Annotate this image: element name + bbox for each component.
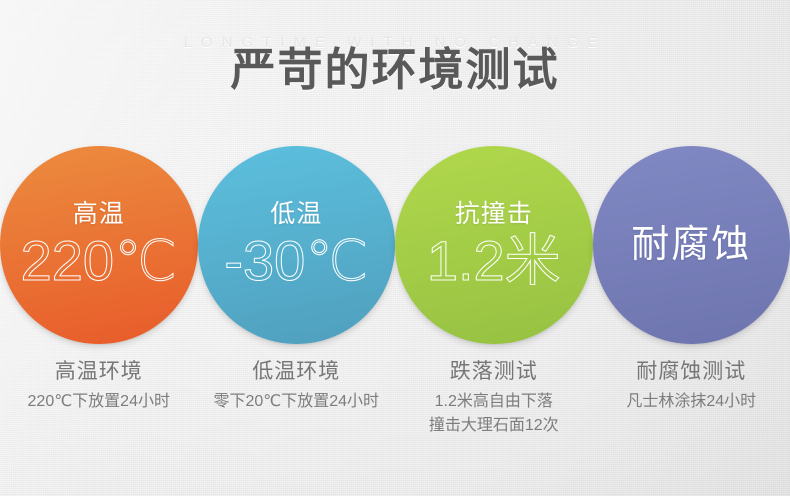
- test-circle-drop-impact: 抗撞击 1.2米: [395, 146, 593, 344]
- test-circle-row: 高温 220℃ 低温 -30℃ 抗撞击 1.2米 耐腐蚀: [0, 145, 790, 345]
- caption-lines: 220℃下放置24小时: [0, 390, 198, 413]
- caption-title: 高温环境: [0, 358, 198, 386]
- circle-label-value: 1.2米: [427, 233, 561, 289]
- caption-drop-impact: 跌落测试 1.2米高自由下落撞击大理石面12次: [395, 358, 593, 437]
- test-circle-low-temperature: 低温 -30℃: [198, 146, 396, 344]
- caption-line: 凡士林涂抹24小时: [593, 390, 790, 413]
- caption-lines: 1.2米高自由下落撞击大理石面12次: [395, 390, 593, 436]
- circle-label-top: 高温: [73, 202, 125, 227]
- caption-title: 跌落测试: [395, 358, 593, 386]
- test-circle-corrosion-resistance: 耐腐蚀: [593, 146, 790, 344]
- caption-line: 220℃下放置24小时: [0, 390, 198, 413]
- circle-label-value: -30℃: [224, 233, 368, 289]
- caption-title: 低温环境: [198, 358, 396, 386]
- circle-cell-drop-impact: 抗撞击 1.2米: [395, 145, 593, 345]
- circle-cell-corrosion-resistance: 耐腐蚀: [593, 145, 790, 345]
- caption-lines: 凡士林涂抹24小时: [593, 390, 790, 413]
- caption-title: 耐腐蚀测试: [593, 358, 790, 386]
- circle-label-value: 220℃: [21, 233, 177, 289]
- circle-label-top: 低温: [270, 202, 322, 227]
- circle-label-top: 耐腐蚀: [631, 226, 751, 264]
- circle-cell-low-temperature: 低温 -30℃: [198, 145, 396, 345]
- promo-banner: LONGTIME WITH NO CHANGE 严苛的环境测试 高温 220℃ …: [0, 0, 790, 496]
- circle-cell-high-temperature: 高温 220℃: [0, 145, 198, 345]
- caption-corrosion-resistance: 耐腐蚀测试 凡士林涂抹24小时: [593, 358, 790, 437]
- caption-line: 零下20℃下放置24小时: [198, 390, 396, 413]
- caption-row: 高温环境 220℃下放置24小时 低温环境 零下20℃下放置24小时 跌落测试 …: [0, 358, 790, 437]
- caption-lines: 零下20℃下放置24小时: [198, 390, 396, 413]
- test-circle-high-temperature: 高温 220℃: [0, 146, 198, 344]
- page-title: 严苛的环境测试: [0, 44, 790, 96]
- circle-label-top: 抗撞击: [455, 202, 533, 227]
- caption-high-temperature: 高温环境 220℃下放置24小时: [0, 358, 198, 437]
- caption-line: 撞击大理石面12次: [395, 414, 593, 437]
- caption-low-temperature: 低温环境 零下20℃下放置24小时: [198, 358, 396, 437]
- caption-line: 1.2米高自由下落: [395, 390, 593, 413]
